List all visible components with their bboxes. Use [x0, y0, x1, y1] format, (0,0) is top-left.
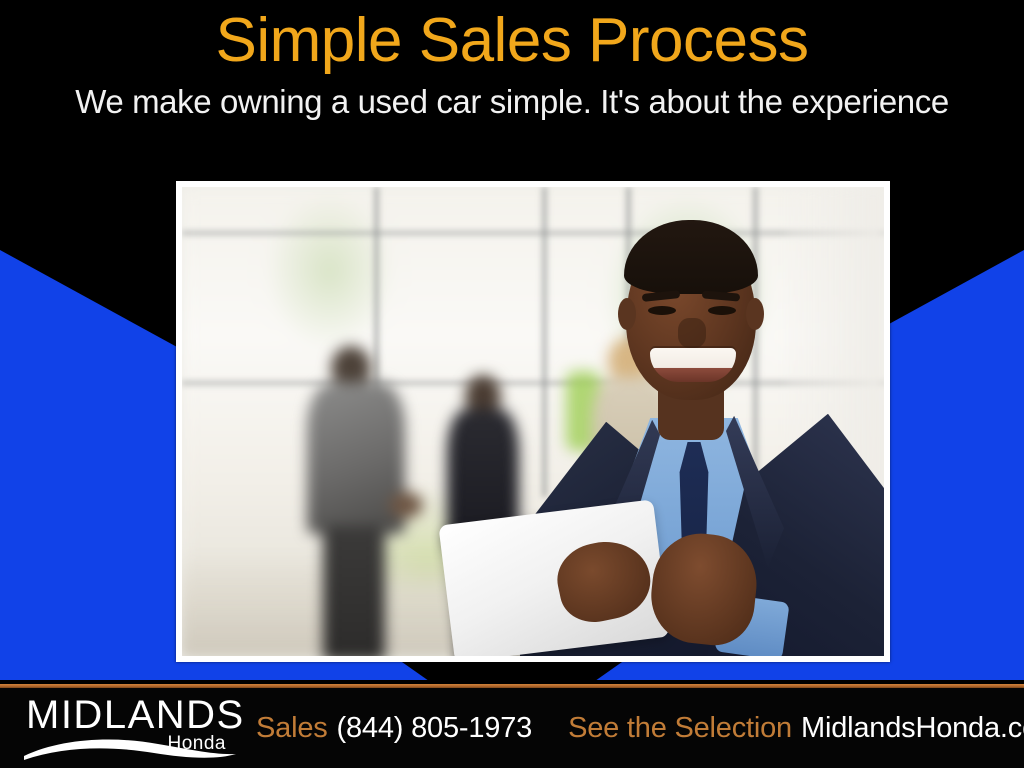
background-person-man-grey-suit — [301, 346, 411, 656]
photo-card — [176, 181, 890, 662]
logo-sub-text: Honda — [168, 734, 227, 754]
footer-contact-info: Sales (844) 805-1973 See the Selection M… — [256, 688, 1024, 768]
ear-left — [618, 298, 636, 330]
office-photo — [182, 187, 884, 656]
legs — [323, 526, 385, 656]
foreground-salesman — [530, 206, 884, 656]
eye-left — [648, 306, 676, 315]
selection-label: See the Selection — [568, 711, 792, 745]
page-title: Simple Sales Process — [0, 6, 1024, 76]
page-subtitle: We make owning a used car simple. It's a… — [0, 82, 1024, 122]
ear-right — [746, 298, 764, 330]
website-url[interactable]: MidlandsHonda.com — [801, 711, 1024, 745]
sales-label: Sales — [256, 711, 328, 745]
smiling-mouth — [650, 348, 736, 382]
hair — [624, 220, 758, 294]
footer-item-selection[interactable]: See the Selection MidlandsHonda.com — [568, 711, 1024, 745]
headline-block: Simple Sales Process We make owning a us… — [0, 0, 1024, 150]
footer-item-sales[interactable]: Sales (844) 805-1973 — [256, 711, 532, 745]
logo-brand-text: MIDLANDS — [26, 694, 245, 736]
slide-canvas: Simple Sales Process We make owning a us… — [0, 0, 1024, 768]
sales-phone-number[interactable]: (844) 805-1973 — [337, 711, 533, 745]
eye-right — [708, 306, 736, 315]
nose — [678, 318, 706, 348]
midlands-honda-logo[interactable]: MIDLANDS Honda — [22, 694, 242, 762]
